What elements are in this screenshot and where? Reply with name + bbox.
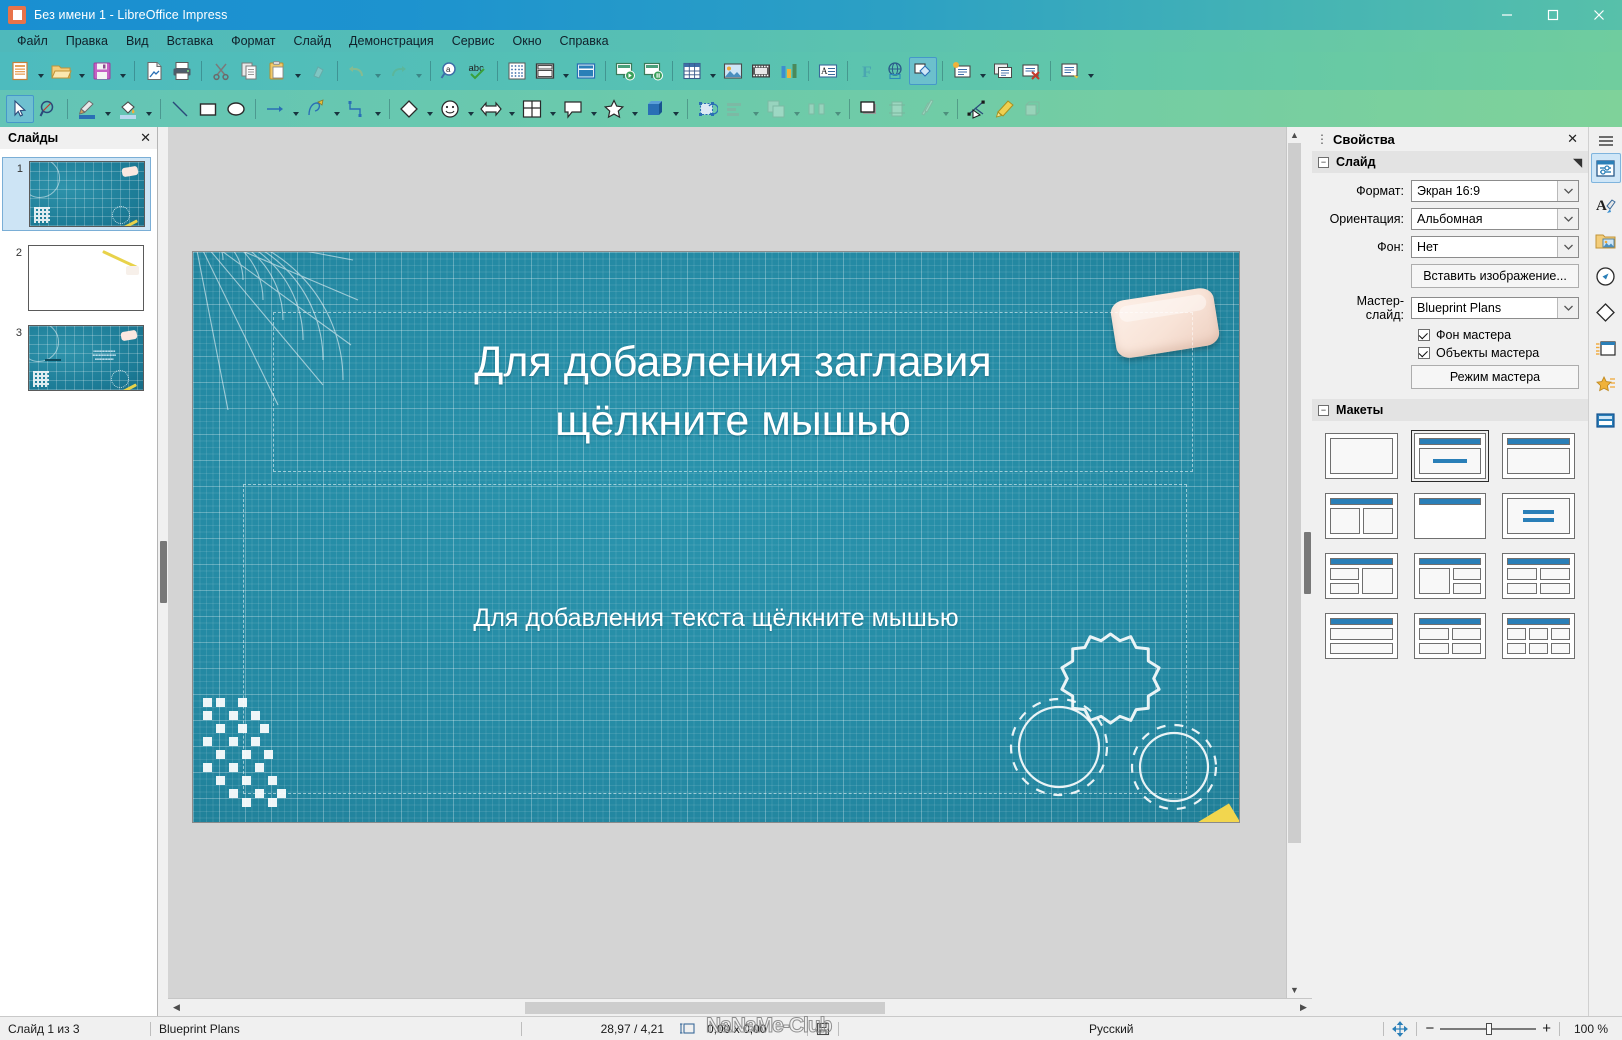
toolbar-separator [201, 61, 202, 81]
horizontal-scrollbar[interactable]: ◀ ▶ [168, 998, 1312, 1016]
panel-splitter-left[interactable] [158, 127, 168, 1016]
main-area: Слайды ✕ 1 2 [0, 127, 1622, 1016]
layout-title-bar [1419, 558, 1482, 565]
background-row: Фон: Нет [1319, 236, 1579, 258]
scroll-left-icon[interactable]: ◀ [168, 1002, 185, 1013]
standard-toolbar: a abc A F [0, 52, 1622, 90]
zoom-out-button[interactable]: − [1425, 1020, 1434, 1037]
redo-dropdown[interactable] [412, 57, 425, 85]
layout-two-rows[interactable] [1411, 610, 1490, 662]
ellipse-icon[interactable] [222, 95, 250, 123]
svg-text:A: A [1596, 198, 1607, 214]
new-doc-icon[interactable] [6, 57, 34, 85]
distribute-dropdown[interactable] [831, 95, 844, 123]
svg-text:F: F [862, 64, 872, 81]
toolbar-separator [160, 99, 161, 119]
layout-title-bar [1507, 438, 1570, 445]
block-arrows-dropdown[interactable] [505, 95, 518, 123]
background-value: Нет [1417, 240, 1438, 254]
menu-tools[interactable]: Сервис [443, 32, 504, 50]
layout-title-bar [1330, 618, 1393, 625]
rectangle-icon[interactable] [194, 95, 222, 123]
orientation-value: Альбомная [1417, 212, 1482, 226]
master-slide-label: Мастер-слайд: [1319, 294, 1411, 322]
chevron-down-icon[interactable] [1557, 237, 1578, 257]
title-placeholder-text: Для добавления заглавия щёлкните мышью [383, 333, 1083, 452]
filter-icon[interactable] [911, 95, 939, 123]
layouts-grid[interactable] [1312, 421, 1588, 672]
insert-image-row: Вставить изображение... [1319, 264, 1579, 288]
qr-decoration [33, 371, 49, 387]
menu-bar: Файл Правка Вид Вставка Формат Слайд Дем… [0, 30, 1622, 52]
find-replace-icon[interactable]: a [436, 57, 464, 85]
zoom-in-button[interactable]: + [1542, 1020, 1551, 1037]
paintbrush-clone-icon[interactable] [304, 57, 332, 85]
cube-3d-icon[interactable] [641, 95, 669, 123]
navigator-compass-icon[interactable] [1591, 261, 1621, 291]
fill-color-bucket-icon[interactable] [114, 95, 142, 123]
distribute-icon[interactable] [803, 95, 831, 123]
checkbox-icon[interactable] [1418, 329, 1430, 341]
zoom-track[interactable] [1440, 1028, 1536, 1030]
line-color-dropdown[interactable] [101, 95, 114, 123]
toolbar-separator [687, 99, 688, 119]
toolbar-separator [1050, 61, 1051, 81]
align-objects-icon[interactable] [721, 95, 749, 123]
diamond-shape-icon[interactable] [395, 95, 423, 123]
qr-decoration [34, 207, 50, 223]
line-icon[interactable] [166, 95, 194, 123]
arrange-dropdown[interactable] [790, 95, 803, 123]
cursor-position: 28,97 / 4,21 [522, 1017, 672, 1040]
printer-icon[interactable] [168, 57, 196, 85]
grid-dots-icon[interactable] [503, 57, 531, 85]
spellcheck-abc-icon[interactable]: abc [464, 57, 492, 85]
sidebar: ⋮ Свойства ✕ − Слайд ◥ Формат: Экран 16:… [1312, 127, 1622, 1016]
slide-section-body: Формат: Экран 16:9 Ориентация: [1312, 173, 1588, 399]
slides-panel: Слайды ✕ 1 2 [0, 127, 158, 1016]
toolbar-separator [134, 61, 135, 81]
background-label: Фон: [1319, 240, 1411, 254]
thumbnail-text: ■■■■■■■■■■■■■■■■■■■■■■■■■■■■■■■■■■■■■■■■… [75, 350, 134, 362]
gallery-folder-icon[interactable] [1591, 225, 1621, 255]
chevron-down-icon[interactable] [1557, 298, 1578, 318]
arrange-icon[interactable] [762, 95, 790, 123]
paste-dropdown[interactable] [291, 57, 304, 85]
slides-list[interactable]: 1 2 3 [0, 149, 157, 1016]
layout-title-bar [1330, 498, 1393, 505]
window-title: Без имени 1 - LibreOffice Impress [34, 8, 227, 22]
svg-text:A: A [821, 66, 828, 76]
master-mode-button[interactable]: Режим мастера [1411, 365, 1579, 389]
toolbar-separator [337, 61, 338, 81]
orientation-row: Ориентация: Альбомная [1319, 208, 1579, 230]
pdf-export-icon[interactable] [140, 57, 168, 85]
orientation-combo[interactable]: Альбомная [1411, 208, 1579, 230]
toolbar-separator [672, 61, 673, 81]
duplicate-slide-icon[interactable] [989, 57, 1017, 85]
slides-panel-title: Слайды [8, 131, 58, 145]
save-status-icon[interactable] [808, 1017, 838, 1040]
background-combo[interactable]: Нет [1411, 236, 1579, 258]
layout-title-only[interactable] [1411, 490, 1490, 542]
vscroll-track[interactable] [1287, 143, 1302, 982]
scroll-right-icon[interactable]: ▶ [1295, 1002, 1312, 1013]
slide-thumbnail-1[interactable]: 1 [2, 157, 151, 231]
toolbar-separator [942, 61, 943, 81]
new-slide-icon[interactable] [948, 57, 976, 85]
menu-edit[interactable]: Правка [57, 32, 117, 50]
properties-panel-icon[interactable] [1591, 153, 1621, 183]
layout-cell [1419, 448, 1482, 474]
toolbar-separator [849, 99, 850, 119]
layout-title-bar [1507, 558, 1570, 565]
slide-edit-area[interactable]: HB Для добавления заглавия щёлкните мышь… [168, 127, 1286, 998]
drawing-toolbar [0, 90, 1622, 127]
flowchart-icon[interactable] [518, 95, 546, 123]
shadow-icon[interactable] [855, 95, 883, 123]
gear-decoration [111, 370, 129, 388]
slide-section-header[interactable]: − Слайд ◥ [1312, 151, 1588, 173]
master-mode-row: Режим мастера [1319, 365, 1579, 389]
eraser-decoration [126, 266, 139, 275]
format-combo[interactable]: Экран 16:9 [1411, 180, 1579, 202]
toolbar-separator [497, 61, 498, 81]
slide-number: 1 [7, 161, 23, 175]
zoom-level[interactable]: 100 % [1560, 1017, 1622, 1040]
slide-thumbnail-image [28, 245, 144, 311]
impress-document-icon [8, 6, 26, 24]
sidebar-tab-strip: A [1588, 127, 1622, 1016]
image-icon[interactable] [719, 57, 747, 85]
chevron-down-icon[interactable] [1557, 209, 1578, 229]
master-slide-icon[interactable] [531, 57, 559, 85]
format-label: Формат: [1319, 184, 1411, 198]
hscroll-track[interactable] [185, 1001, 1295, 1015]
symbols-dropdown[interactable] [464, 95, 477, 123]
clipboard-icon[interactable] [263, 57, 291, 85]
slide-number: 3 [6, 325, 22, 339]
sidebar-content: ⋮ Свойства ✕ − Слайд ◥ Формат: Экран 16:… [1312, 127, 1588, 1016]
master-slide-combo[interactable]: Blueprint Plans [1411, 297, 1579, 319]
edit-wrapper: HB Для добавления заглавия щёлкните мышь… [168, 127, 1312, 1016]
language-indicator[interactable]: Русский [839, 1017, 1383, 1040]
master-objects-checkbox[interactable]: Объекты мастера [1418, 346, 1579, 360]
dash-decoration [45, 359, 61, 361]
slide-number: 2 [6, 245, 22, 259]
slide-properties-dropdown[interactable] [1084, 57, 1097, 85]
scroll-down-icon[interactable]: ▼ [1287, 982, 1302, 998]
splitter-grip[interactable] [1304, 532, 1311, 594]
layout-blank[interactable] [1322, 430, 1401, 482]
menu-window[interactable]: Окно [504, 32, 551, 50]
layout-title-bar [1507, 618, 1570, 625]
block-arrow-icon[interactable] [477, 95, 505, 123]
layout-title-content2[interactable] [1499, 430, 1578, 482]
chevron-down-icon[interactable] [1557, 181, 1578, 201]
smiley-icon[interactable] [436, 95, 464, 123]
vertical-scrollbar[interactable]: ▲ ▼ [1286, 127, 1302, 998]
collapse-icon[interactable]: − [1318, 405, 1329, 416]
layout-title-bar [1419, 438, 1482, 445]
menu-slide[interactable]: Слайд [284, 32, 340, 50]
sidebar-title: Свойства [1333, 132, 1563, 147]
sidebar-grip-icon[interactable]: ⋮ [1316, 132, 1329, 146]
title-bar: Без имени 1 - LibreOffice Impress [0, 0, 1622, 30]
title-placeholder[interactable]: Для добавления заглавия щёлкните мышью [273, 312, 1193, 472]
new-doc-dropdown[interactable] [34, 57, 47, 85]
white-background [29, 246, 143, 310]
menu-format[interactable]: Формат [222, 32, 284, 50]
slide-canvas[interactable]: HB Для добавления заглавия щёлкните мышь… [192, 251, 1240, 823]
callouts-dropdown[interactable] [587, 95, 600, 123]
outline-placeholder-text: Для добавления текста щёлкните мышью [193, 604, 1239, 633]
curves-dropdown[interactable] [330, 95, 343, 123]
slide-thumbnail-image [29, 161, 145, 227]
present-current-icon[interactable] [639, 57, 667, 85]
shapes-diamond-icon[interactable] [1591, 297, 1621, 327]
flowchart-dropdown[interactable] [546, 95, 559, 123]
crop-icon[interactable] [883, 95, 911, 123]
sidebar-title-bar: ⋮ Свойства ✕ [1312, 127, 1588, 151]
callout-icon[interactable] [559, 95, 587, 123]
gear-decoration [112, 206, 130, 224]
master-background-checkbox[interactable]: Фон мастера [1418, 328, 1579, 342]
toolbar-separator [847, 61, 848, 81]
zoom-knob[interactable] [1486, 1023, 1492, 1035]
format-value: Экран 16:9 [1417, 184, 1480, 198]
scissors-icon[interactable] [207, 57, 235, 85]
layout-six-content[interactable] [1499, 610, 1578, 662]
toolbar-separator [67, 99, 68, 119]
zoom-slider[interactable]: − + [1417, 1020, 1559, 1037]
orientation-label: Ориентация: [1319, 212, 1411, 226]
toolbar-separator [430, 61, 431, 81]
table-dropdown[interactable] [706, 57, 719, 85]
object-size-icon [672, 1017, 703, 1040]
extrusion-icon[interactable] [1019, 95, 1047, 123]
line-color-pen-icon[interactable] [73, 95, 101, 123]
more-options-icon[interactable]: ◥ [1574, 156, 1582, 169]
new-slide-dropdown[interactable] [976, 57, 989, 85]
pencil-decoration: HB [781, 799, 1240, 823]
menu-view[interactable]: Вид [117, 32, 158, 50]
media-film-icon[interactable] [747, 57, 775, 85]
connector-icon[interactable] [343, 95, 371, 123]
rotate-icon[interactable] [693, 95, 721, 123]
text-box-icon[interactable]: A [814, 57, 842, 85]
master-slide-value: Blueprint Plans [1417, 301, 1501, 315]
edit-points-icon[interactable] [963, 95, 991, 123]
master-background-label: Фон мастера [1436, 328, 1511, 342]
close-icon[interactable]: ✕ [140, 130, 151, 146]
master-slides-icon[interactable] [1591, 333, 1621, 363]
checkbox-icon[interactable] [1418, 347, 1430, 359]
format-row: Формат: Экран 16:9 [1319, 180, 1579, 202]
minimize-button[interactable] [1484, 0, 1530, 30]
undo-arrow-icon[interactable] [343, 57, 371, 85]
toolbar-separator [605, 61, 606, 81]
stars-dropdown[interactable] [628, 95, 641, 123]
close-button[interactable] [1576, 0, 1622, 30]
draw-shapes-icon[interactable] [909, 57, 937, 85]
layout-title-bar [1419, 618, 1482, 625]
filter-dropdown[interactable] [939, 95, 952, 123]
fill-color-dropdown[interactable] [142, 95, 155, 123]
vscroll-thumb[interactable] [1288, 143, 1301, 843]
save-dropdown[interactable] [116, 57, 129, 85]
status-bar: Слайд 1 из 3 Blueprint Plans 28,97 / 4,2… [0, 1016, 1622, 1040]
connectors-dropdown[interactable] [371, 95, 384, 123]
star-icon[interactable] [600, 95, 628, 123]
outline-placeholder[interactable] [243, 484, 1187, 794]
redo-arrow-icon[interactable] [384, 57, 412, 85]
master-slide-row: Мастер-слайд: Blueprint Plans [1319, 294, 1579, 322]
glue-points-icon[interactable] [991, 95, 1019, 123]
fontwork-F-icon[interactable]: F [853, 57, 881, 85]
chart-bars-icon[interactable] [775, 57, 803, 85]
layout-two-content[interactable] [1322, 490, 1401, 542]
slide-thumbnail-3[interactable]: 3 ■■■■■■■■■■■■■■■■■■■■■■■■■■■■■■■■■■■■■■… [6, 325, 151, 391]
delete-slide-icon[interactable] [1017, 57, 1045, 85]
toolbar-separator [389, 99, 390, 119]
arrows-dropdown[interactable] [289, 95, 302, 123]
slide-section-title: Слайд [1336, 155, 1376, 169]
layouts-section-title: Макеты [1336, 403, 1383, 417]
magnifier-icon[interactable] [34, 95, 62, 123]
slide-properties-icon[interactable] [1056, 57, 1084, 85]
slide-transition-icon[interactable] [1591, 405, 1621, 435]
toolbar-separator [957, 99, 958, 119]
slide-thumbnail-image: ■■■■■■■■■■■■■■■■■■■■■■■■■■■■■■■■■■■■■■■■… [28, 325, 144, 391]
layout-title-bar [1330, 558, 1393, 565]
layout-title-bar [1419, 498, 1482, 505]
align-dropdown[interactable] [749, 95, 762, 123]
panel-splitter-right[interactable] [1302, 127, 1312, 998]
layout-title-content[interactable] [1411, 430, 1490, 482]
toolbar-separator [808, 61, 809, 81]
layout-cell [1507, 498, 1570, 534]
master-objects-label: Объекты мастера [1436, 346, 1539, 360]
layout-cell [1507, 448, 1570, 474]
layout-content-stack[interactable] [1322, 610, 1401, 662]
close-icon[interactable]: ✕ [1563, 131, 1582, 147]
slides-panel-header: Слайды ✕ [0, 127, 157, 149]
table-icon[interactable] [678, 57, 706, 85]
master-slide-name: Blueprint Plans [151, 1017, 521, 1040]
layout-content-over-two[interactable] [1411, 550, 1490, 602]
undo-dropdown[interactable] [371, 57, 384, 85]
menu-file[interactable]: Файл [8, 32, 57, 50]
layout-two-content-over[interactable] [1322, 550, 1401, 602]
insert-image-button[interactable]: Вставить изображение... [1411, 264, 1579, 288]
object-size: 0,00 x 0,00 [703, 1017, 807, 1040]
collapse-icon[interactable]: − [1318, 157, 1329, 168]
slide-pane-icon[interactable] [572, 57, 600, 85]
slide-counter: Слайд 1 из 3 [0, 1017, 150, 1040]
open-dropdown[interactable] [75, 57, 88, 85]
layout-four-content[interactable] [1499, 550, 1578, 602]
save-floppy-icon[interactable] [88, 57, 116, 85]
menu-slideshow[interactable]: Демонстрация [340, 32, 443, 50]
open-folder-icon[interactable] [47, 57, 75, 85]
menu-help[interactable]: Справка [551, 32, 618, 50]
menu-insert[interactable]: Вставка [158, 32, 222, 50]
animation-star-icon[interactable] [1591, 369, 1621, 399]
arrow-line-icon[interactable] [261, 95, 289, 123]
slide-thumbnail-2[interactable]: 2 [6, 245, 151, 311]
layout-cell [1330, 438, 1393, 474]
styles-A-brush-icon[interactable]: A [1591, 189, 1621, 219]
fit-slide-icon[interactable] [1384, 1017, 1416, 1040]
splitter-grip[interactable] [160, 541, 167, 603]
curve-icon[interactable] [302, 95, 330, 123]
svg-text:a: a [446, 65, 451, 74]
window-controls [1484, 0, 1622, 30]
basic-shapes-dropdown[interactable] [423, 95, 436, 123]
views-dropdown[interactable] [559, 57, 572, 85]
toolbar-separator [255, 99, 256, 119]
copy-icon[interactable] [235, 57, 263, 85]
present-play-icon[interactable] [611, 57, 639, 85]
arrow-cursor-icon[interactable] [6, 95, 34, 123]
scroll-up-icon[interactable]: ▲ [1287, 127, 1302, 143]
layout-centered-text[interactable] [1499, 490, 1578, 542]
maximize-button[interactable] [1530, 0, 1576, 30]
layouts-section-header[interactable]: − Макеты [1312, 399, 1588, 421]
3d-dropdown[interactable] [669, 95, 682, 123]
hamburger-menu-icon[interactable] [1589, 129, 1622, 153]
globe-link-icon[interactable] [881, 57, 909, 85]
hscroll-thumb[interactable] [525, 1002, 885, 1014]
